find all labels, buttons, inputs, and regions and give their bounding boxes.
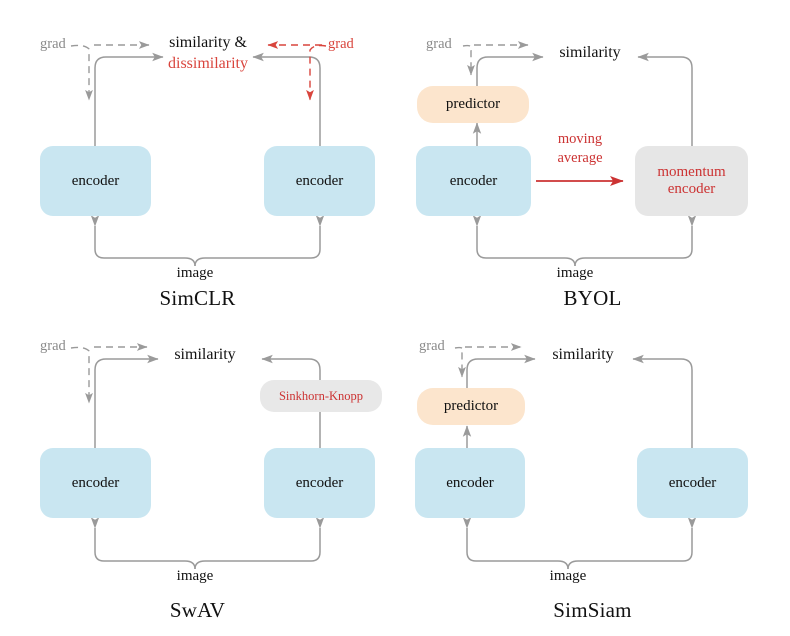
panel-simsiam: predictor encoder encoder grad similarit… — [395, 318, 790, 636]
simsiam-left-encoder[interactable]: encoder — [415, 448, 525, 518]
panel-byol: predictor encoder momentum encoder grad … — [395, 0, 790, 318]
swav-image-label: image — [168, 568, 222, 586]
node-label: predictor — [446, 96, 500, 113]
byol-predictor[interactable]: predictor — [417, 86, 529, 123]
simsiam-objective-similarity: similarity — [533, 346, 633, 365]
simsiam-grad-label: grad — [419, 338, 445, 355]
simclr-image-label: image — [168, 265, 222, 283]
node-label: Sinkhorn-Knopp — [279, 389, 363, 403]
byol-moving-average-line2: average — [540, 150, 620, 167]
node-label: encoder — [450, 173, 497, 190]
byol-momentum-encoder[interactable]: momentum encoder — [635, 146, 748, 216]
swav-sinkhorn-knopp[interactable]: Sinkhorn-Knopp — [260, 380, 382, 412]
simclr-left-encoder[interactable]: encoder — [40, 146, 151, 216]
node-label: encoder — [296, 173, 343, 190]
node-label: encoder — [446, 475, 493, 492]
swav-objective-similarity: similarity — [155, 346, 255, 365]
node-label: encoder — [669, 475, 716, 492]
simclr-objective-dissimilarity: dissimilarity — [155, 55, 261, 74]
simsiam-right-encoder[interactable]: encoder — [637, 448, 748, 518]
node-label: predictor — [444, 398, 498, 415]
panel-title-simclr: SimCLR — [0, 286, 395, 311]
byol-grad-label: grad — [426, 36, 452, 53]
siamese-architectures-figure: encoder encoder grad grad similarity & d… — [0, 0, 790, 636]
swav-left-encoder[interactable]: encoder — [40, 448, 151, 518]
byol-image-label: image — [548, 265, 602, 283]
node-label: encoder — [72, 173, 119, 190]
simclr-grad-label-right: grad — [328, 36, 354, 53]
panel-swav: encoder encoder Sinkhorn-Knopp grad simi… — [0, 318, 395, 636]
node-label-line1: momentum — [657, 164, 725, 181]
simclr-grad-label-left: grad — [40, 36, 66, 53]
panel-title-swav: SwAV — [0, 598, 395, 623]
simclr-objective-similarity: similarity & — [160, 34, 256, 53]
node-label: encoder — [296, 475, 343, 492]
swav-right-encoder[interactable]: encoder — [264, 448, 375, 518]
byol-encoder[interactable]: encoder — [416, 146, 531, 216]
node-label-line2: encoder — [668, 181, 715, 198]
node-label: encoder — [72, 475, 119, 492]
simsiam-image-label: image — [541, 568, 595, 586]
swav-grad-label: grad — [40, 338, 66, 355]
simclr-right-encoder[interactable]: encoder — [264, 146, 375, 216]
panel-simclr: encoder encoder grad grad similarity & d… — [0, 0, 395, 318]
panel-title-byol: BYOL — [395, 286, 790, 311]
simsiam-predictor[interactable]: predictor — [417, 388, 525, 425]
byol-objective-similarity: similarity — [540, 44, 640, 63]
panel-title-simsiam: SimSiam — [395, 598, 790, 623]
byol-moving-average-line1: moving — [540, 131, 620, 148]
